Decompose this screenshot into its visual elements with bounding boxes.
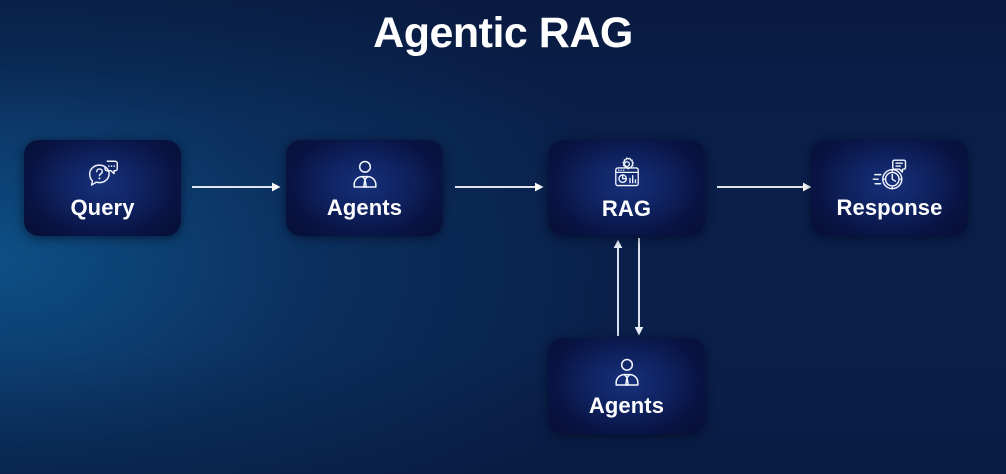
node-rag[interactable]: RAG — [548, 140, 705, 236]
diagram-canvas: Agentic RAG Query Agents — [0, 0, 1006, 474]
arrow-rag-to-response — [717, 177, 813, 197]
node-response[interactable]: Response — [811, 140, 968, 236]
arrow-query-to-agents — [192, 177, 282, 197]
node-label: Query — [70, 195, 134, 221]
business-person-icon — [346, 156, 384, 194]
node-label: Response — [837, 195, 943, 221]
dashboard-gear-icon — [608, 155, 646, 193]
arrow-agents-to-rag — [455, 177, 545, 197]
fast-clock-message-icon — [871, 156, 909, 194]
node-label: Agents — [589, 393, 664, 419]
node-label: Agents — [327, 195, 402, 221]
speech-bubble-question-icon — [84, 156, 122, 194]
node-agents[interactable]: Agents — [286, 140, 443, 236]
node-query[interactable]: Query — [24, 140, 181, 236]
arrow-agents-to-rag-up — [609, 238, 627, 338]
node-agents-secondary[interactable]: Agents — [548, 338, 705, 434]
node-label: RAG — [602, 196, 651, 222]
business-person-icon — [608, 354, 646, 392]
page-title: Agentic RAG — [0, 4, 1006, 62]
arrow-rag-to-agents-down — [630, 238, 648, 338]
